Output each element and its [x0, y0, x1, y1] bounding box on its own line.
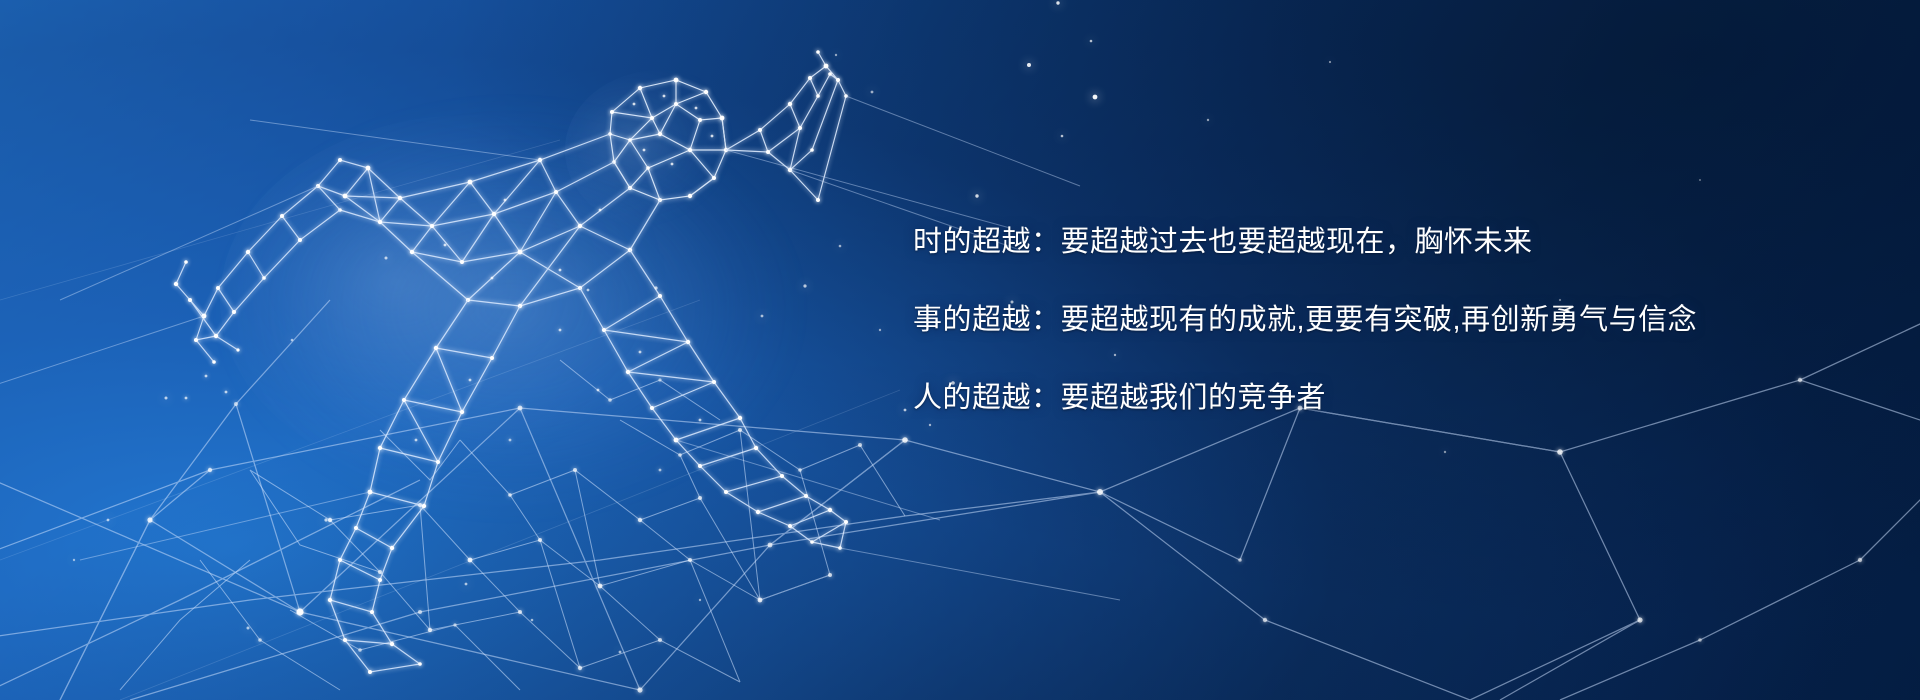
tagline-people: 人的超越：要超越我们的竞争者 [913, 384, 1813, 413]
tagline-work: 事的超越：要超越现有的成就,更要有突破,再创新勇气与信念 [913, 306, 1813, 335]
tagline-time: 时的超越：要超越过去也要超越现在，胸怀未来 [913, 228, 1813, 257]
tagline-block: 时的超越：要超越过去也要超越现在，胸怀未来 事的超越：要超越现有的成就,更要有突… [913, 228, 1813, 413]
runner-glow [150, 40, 870, 600]
hero-banner: 时的超越：要超越过去也要超越现在，胸怀未来 事的超越：要超越现有的成就,更要有突… [0, 0, 1920, 700]
